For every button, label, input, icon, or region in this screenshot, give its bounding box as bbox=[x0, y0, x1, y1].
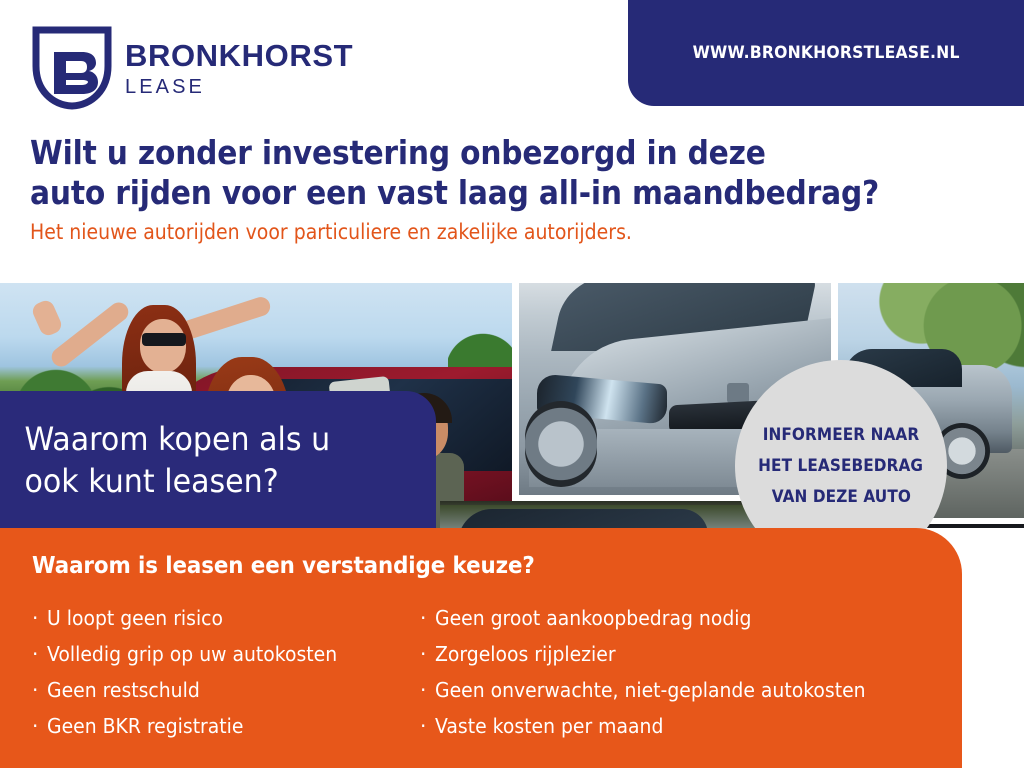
woman1-sunglasses bbox=[142, 333, 186, 346]
hero-subheadline: Het nieuwe autorijden voor particuliere … bbox=[30, 220, 840, 244]
silver-car-window bbox=[458, 509, 708, 528]
woman1-left-arm bbox=[48, 299, 132, 371]
benefits-title: Waarom is leasen een verstandige keuze? bbox=[32, 553, 535, 579]
benefits-columns: · U loopt geen risico · Volledig grip op… bbox=[32, 600, 922, 744]
benefit-item: · Geen onverwachte, niet-geplande autoko… bbox=[420, 672, 920, 708]
benefit-text: Geen onverwachte, niet-geplande autokost… bbox=[435, 672, 866, 708]
benefit-text: Volledig grip op uw autokosten bbox=[47, 636, 337, 672]
shield-b-logo-icon bbox=[32, 26, 112, 110]
badge-line-2: HET LEASEBEDRAG bbox=[759, 456, 924, 476]
blue-question-text: Waarom kopen als u ook kunt leasen? bbox=[0, 418, 330, 502]
brand-subname: LEASE bbox=[125, 77, 353, 97]
bullet-icon: · bbox=[32, 636, 38, 672]
benefit-item: · U loopt geen risico bbox=[32, 600, 420, 636]
headline-line-2: auto rijden voor een vast laag all-in ma… bbox=[30, 173, 840, 213]
benefits-panel: Waarom is leasen een verstandige keuze? … bbox=[0, 528, 962, 768]
benefit-text: Geen restschuld bbox=[47, 672, 200, 708]
benefit-item: · Geen BKR registratie bbox=[32, 708, 420, 744]
woman1-face bbox=[140, 319, 186, 373]
bullet-icon: · bbox=[420, 636, 426, 672]
badge-line-3: VAN DEZE AUTO bbox=[771, 487, 910, 507]
website-url-banner[interactable]: WWW.BRONKHORSTLEASE.NL bbox=[628, 0, 1024, 106]
benefit-item: · Volledig grip op uw autokosten bbox=[32, 636, 420, 672]
peugeot-wheel bbox=[525, 401, 597, 487]
benefits-column-left: · U loopt geen risico · Volledig grip op… bbox=[32, 600, 420, 744]
bullet-icon: · bbox=[32, 600, 38, 636]
bullet-icon: · bbox=[420, 708, 426, 744]
headline-line-1: Wilt u zonder investering onbezorgd in d… bbox=[30, 133, 840, 173]
benefit-text: Geen groot aankoopbedrag nodig bbox=[435, 600, 751, 636]
benefit-text: Geen BKR registratie bbox=[47, 708, 243, 744]
brand-name: BRONKHORST bbox=[125, 40, 353, 71]
benefit-item: · Geen groot aankoopbedrag nodig bbox=[420, 600, 920, 636]
woman1-hand bbox=[30, 298, 64, 338]
bullet-icon: · bbox=[32, 672, 38, 708]
hero-headline-block: Wilt u zonder investering onbezorgd in d… bbox=[30, 133, 930, 244]
bullet-icon: · bbox=[420, 672, 426, 708]
blue-question-box: Waarom kopen als u ook kunt leasen? bbox=[0, 391, 436, 528]
benefit-text: U loopt geen risico bbox=[47, 600, 223, 636]
brand-logo-wordmark: BRONKHORST LEASE bbox=[125, 40, 353, 97]
benefit-item: · Geen restschuld bbox=[32, 672, 420, 708]
benefits-column-right: · Geen groot aankoopbedrag nodig · Zorge… bbox=[420, 600, 920, 744]
benefit-text: Vaste kosten per maand bbox=[435, 708, 663, 744]
website-url-text: WWW.BRONKHORSTLEASE.NL bbox=[692, 43, 959, 63]
brand-logo[interactable]: BRONKHORST LEASE bbox=[32, 26, 353, 110]
badge-line-1: INFORMEER NAAR bbox=[763, 425, 920, 445]
benefit-item: · Vaste kosten per maand bbox=[420, 708, 920, 744]
benefit-item: · Zorgeloos rijplezier bbox=[420, 636, 920, 672]
peugeot-emblem bbox=[727, 383, 749, 403]
benefit-text: Zorgeloos rijplezier bbox=[435, 636, 616, 672]
bullet-icon: · bbox=[32, 708, 38, 744]
lease-flyer-page: WWW.BRONKHORSTLEASE.NL BRONKHORST LEASE … bbox=[0, 0, 1024, 768]
bullet-icon: · bbox=[420, 600, 426, 636]
